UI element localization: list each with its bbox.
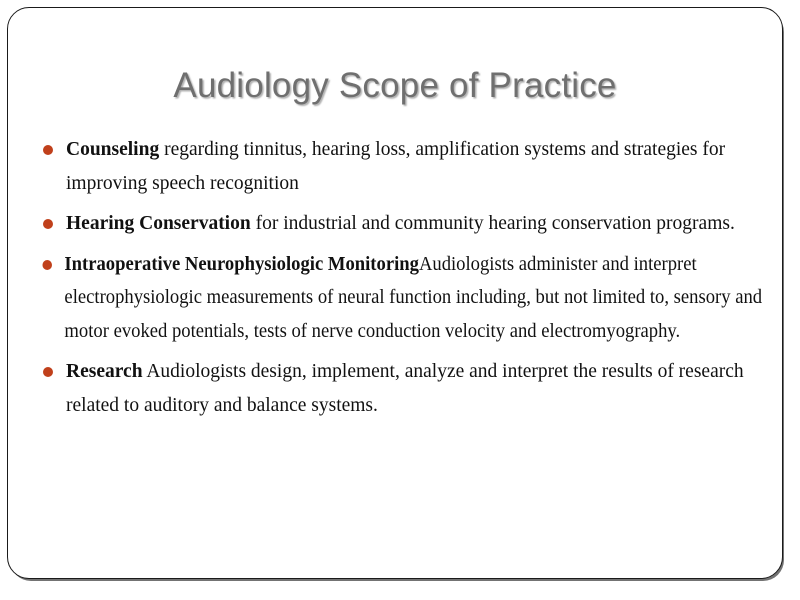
list-item: Intraoperative Neurophysiologic Monitori… [31, 248, 783, 349]
list-item: Hearing Conservation for industrial and … [31, 207, 772, 241]
list-item: Counseling regarding tinnitus, hearing l… [31, 133, 772, 200]
list-item-lead: Counseling [66, 139, 159, 160]
bullet-dot-icon [42, 260, 52, 270]
bullet-dot-icon [43, 219, 53, 229]
bullet-list: Counseling regarding tinnitus, hearing l… [31, 133, 772, 429]
list-item-text: Audiologists design, implement, analyze … [66, 361, 744, 416]
slide-frame: Audiology Scope of Practice Counseling r… [7, 7, 783, 579]
bullet-dot-icon [43, 367, 53, 377]
bullet-dot-icon [43, 145, 53, 155]
list-item: Research Audiologists design, implement,… [31, 355, 772, 422]
list-item-text: for industrial and community hearing con… [251, 213, 735, 234]
list-item-lead: Intraoperative Neurophysiologic Monitori… [64, 254, 419, 275]
list-item-text: regarding tinnitus, hearing loss, amplif… [66, 139, 725, 194]
list-item-lead: Hearing Conservation [66, 213, 251, 234]
page-title: Audiology Scope of Practice [8, 66, 782, 106]
list-item-lead: Research [66, 361, 143, 382]
